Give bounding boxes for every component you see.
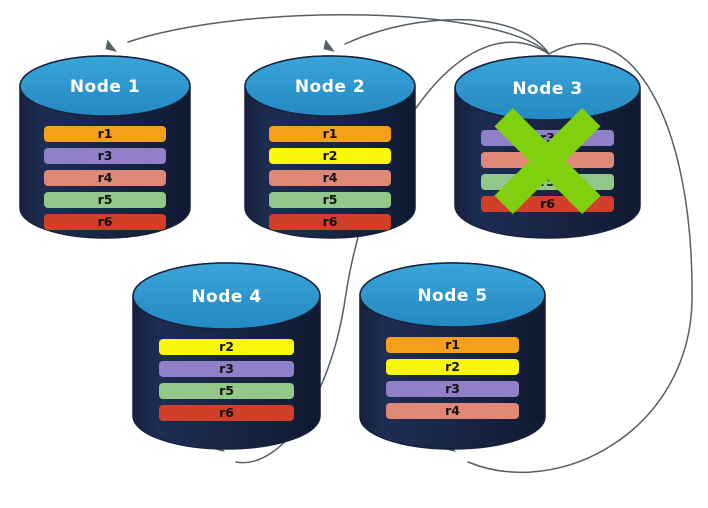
node-3-failure-x-icon <box>494 108 600 214</box>
failure-marks-layer <box>0 0 708 508</box>
diagram-canvas: Node 1r1r3r4r5r6Node 2r1r2r4r5r6Node 3r3… <box>0 0 708 508</box>
